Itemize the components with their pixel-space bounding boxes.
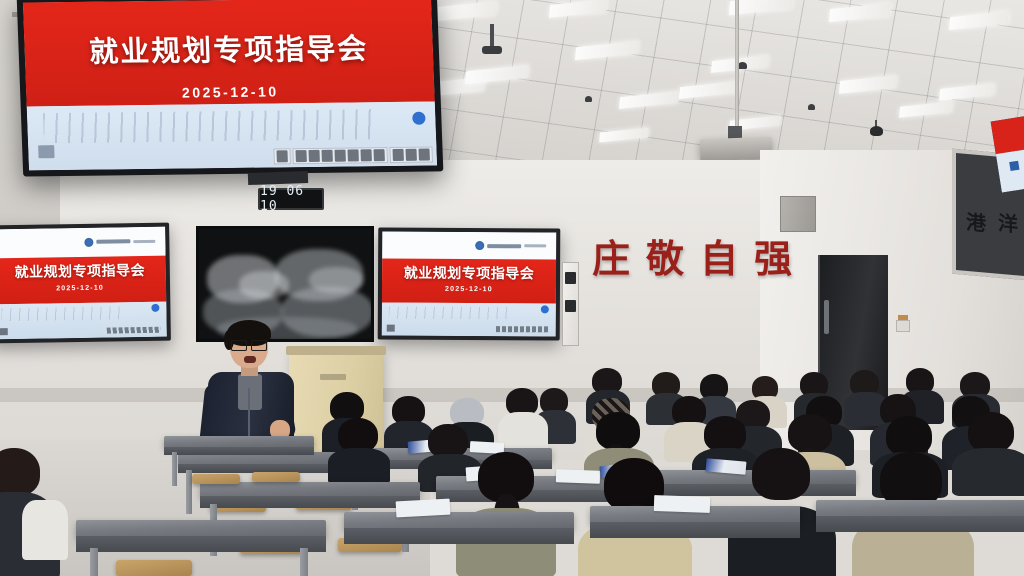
ceiling-sensor-icon	[808, 104, 815, 110]
right-screen-title: 就业规划专项指导会	[382, 263, 556, 284]
toolbar-button-icon[interactable]	[360, 149, 371, 161]
projector-mount-rod	[735, 0, 739, 140]
help-badge-icon[interactable]	[151, 304, 159, 312]
left-screen-illustration	[1, 307, 122, 322]
left-screen-header	[0, 227, 166, 258]
main-screen-title: 就业规划专项指导会	[24, 24, 434, 71]
ceiling-sensor-icon	[585, 96, 592, 102]
screen-corner-logo-icon	[38, 145, 54, 158]
right-screen-illustration	[389, 306, 511, 319]
toolbar-button-icon[interactable]	[418, 148, 429, 160]
left-screen-footer-mark	[107, 327, 161, 334]
motto-char-3: 自	[700, 228, 738, 283]
right-screen-header	[382, 232, 556, 260]
university-name-mark	[96, 240, 130, 245]
wall-calligraphy: 庄 敬 自 强	[592, 228, 792, 283]
toolbar-button-icon[interactable]	[347, 149, 358, 161]
ceiling-fixture-head	[482, 46, 502, 54]
toolbar-button-icon[interactable]	[405, 148, 416, 160]
right-screen-date: 2025-12-10	[382, 286, 556, 294]
motto-char-1: 庄	[592, 228, 630, 283]
toolbar-button-icon[interactable]	[334, 149, 345, 161]
left-screen-corner-icon	[0, 328, 8, 335]
right-display-panel[interactable]: 就业规划专项指导会 2025-12-10	[378, 228, 561, 341]
university-logo-icon	[84, 238, 93, 247]
university-name-mark	[487, 244, 521, 248]
digital-wall-clock: 19 06 10	[258, 188, 324, 210]
corner-screen-banner	[991, 115, 1024, 154]
lecture-hall-photo: 就业规划专项指导会 2025-12-10	[0, 0, 1024, 576]
wall-utility-box	[780, 196, 816, 232]
main-screen-base	[248, 171, 308, 185]
right-screen-corner-icon	[387, 325, 395, 332]
toolbar-group-main[interactable]	[292, 147, 388, 164]
left-screen-title: 就业规划专项指导会	[0, 260, 166, 283]
toolbar-button-icon[interactable]	[392, 148, 403, 160]
motto-char-4: 强	[754, 228, 792, 283]
left-display-panel[interactable]: 就业规划专项指导会 2025-12-10	[0, 223, 171, 344]
toolbar-button-icon[interactable]	[295, 150, 306, 162]
university-logo-icon	[475, 241, 484, 250]
ceiling-sensor-icon	[738, 62, 747, 69]
motto-char-2: 敬	[646, 228, 684, 283]
toolbar-button-icon[interactable]	[321, 149, 332, 161]
help-badge-icon[interactable]	[541, 305, 549, 313]
toolbar-button-icon[interactable]	[373, 149, 384, 161]
door-handle[interactable]	[824, 300, 829, 334]
window-room-char-2: 洋	[998, 207, 1018, 238]
department-name-mark	[524, 244, 546, 247]
toolbar-group-left[interactable]	[273, 148, 291, 164]
security-camera-icon	[870, 126, 883, 136]
corner-screen-logo-icon	[1009, 161, 1019, 171]
glasses-icon	[231, 340, 267, 349]
toolbar-button-icon[interactable]	[308, 149, 319, 161]
window-room-char-1: 港	[966, 206, 986, 237]
clock-time: 19 06 10	[260, 184, 322, 214]
control-panel-button-2[interactable]	[565, 300, 576, 312]
main-projection-screen[interactable]: 就业规划专项指导会 2025-12-10	[17, 0, 444, 177]
presenter-shirt	[238, 374, 262, 410]
wall-outlet	[896, 320, 910, 332]
lectern-label	[320, 374, 346, 380]
toolbar-button-icon[interactable]	[276, 150, 287, 162]
department-name-mark	[133, 240, 155, 243]
control-panel-button-1[interactable]	[565, 272, 576, 284]
right-screen-footer-mark	[496, 326, 550, 332]
toolbar-group-right[interactable]	[389, 146, 433, 163]
presenter-mouth	[244, 356, 256, 363]
main-screen-illustration	[43, 109, 379, 143]
presentation-toolbar[interactable]	[273, 147, 433, 164]
